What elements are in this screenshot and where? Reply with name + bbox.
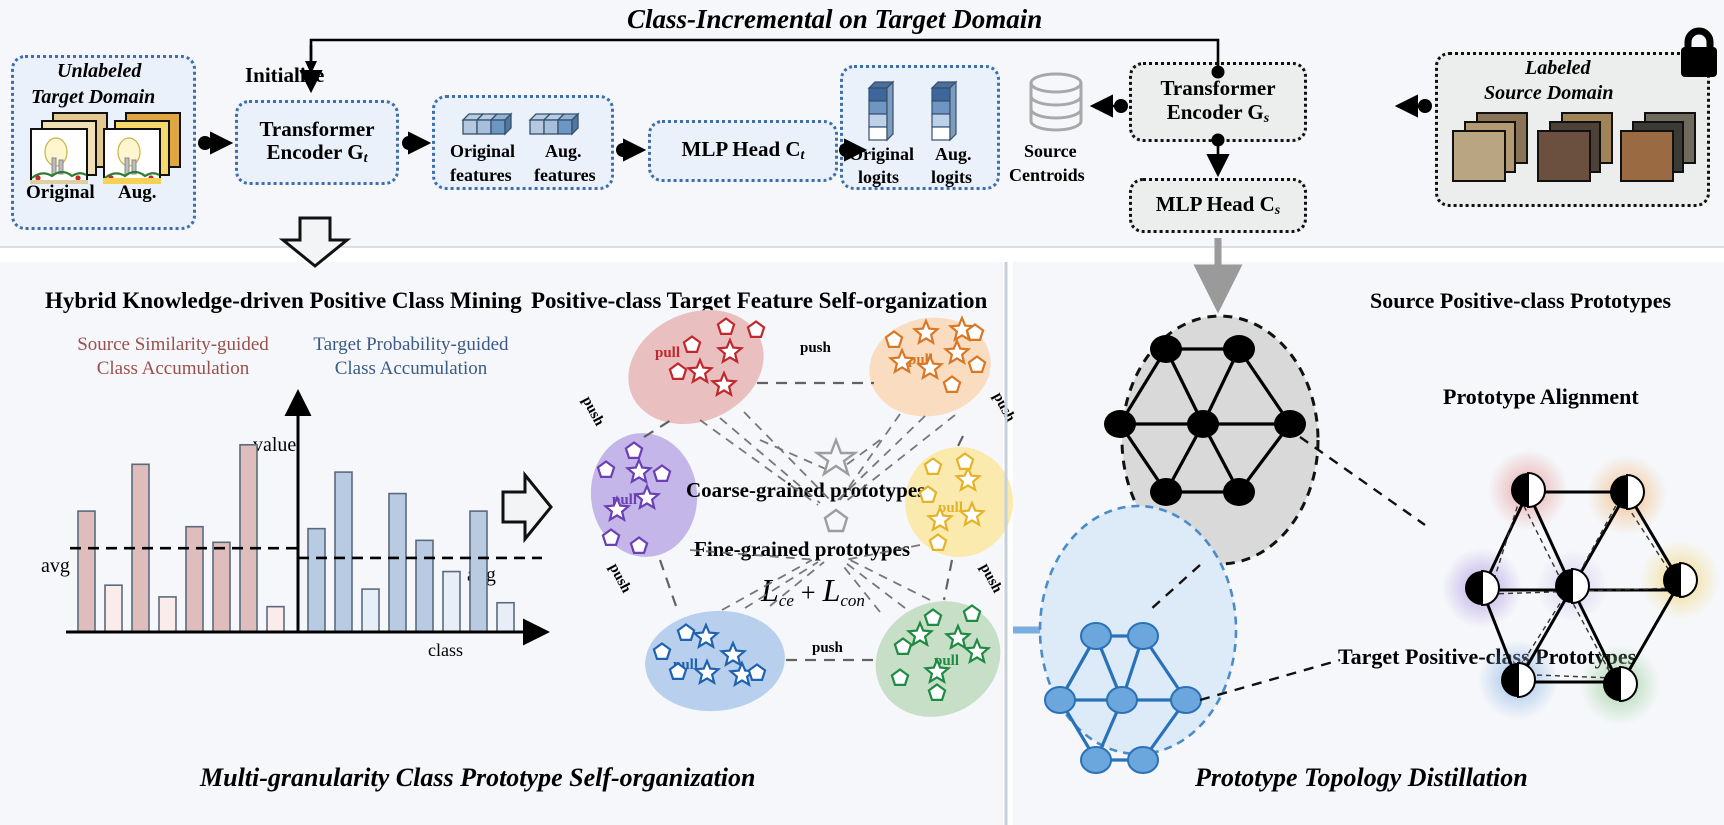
footer-title-left: Multi-granularity Class Prototype Self-o… — [200, 763, 755, 793]
panel-prototype-topology — [1013, 262, 1724, 825]
original-features-label-line1: Original — [450, 141, 515, 162]
chart-avg-label-left: avg — [41, 555, 70, 578]
loss-con-subscript: con — [840, 591, 865, 610]
class-accumulation-bar-chart — [62, 420, 502, 670]
mlp-head-ct-subscript: t — [801, 148, 805, 163]
original-logits-bar — [865, 78, 901, 149]
loss-plus-operator: + — [801, 578, 816, 607]
cluster-purple-pull-label: pull — [612, 492, 637, 509]
aug-features-label-line1: Aug. — [545, 141, 582, 162]
footer-title-right: Prototype Topology Distillation — [1195, 763, 1528, 793]
fine-grained-label: Fine-grained prototypes — [694, 537, 910, 562]
target-aug-caption: Aug. — [118, 182, 157, 204]
cluster-yellow-pull-label: pull — [938, 500, 963, 517]
unlabeled-target-label-line2: Target Domain — [31, 86, 155, 109]
cluster-green-pull-label: pull — [934, 653, 959, 670]
lock-icon — [1676, 26, 1722, 85]
chart-avg-label-right: avg — [467, 564, 496, 587]
loss-ptd-formula: Lptd — [1232, 485, 1272, 524]
encoder-t-line1: Transformer — [259, 117, 374, 141]
aug-logits-label-line2: logits — [931, 167, 972, 188]
cluster-red-pull-label: pull — [655, 345, 680, 362]
cluster-orange-pull-label: pull — [908, 352, 933, 369]
encoder-s-line2: Encoder G — [1167, 100, 1264, 124]
mlp-head-cs-box: MLP Head Cs — [1129, 178, 1307, 233]
aug-logits-label-line1: Aug. — [935, 144, 972, 165]
legend-target-line2: Class Accumulation — [335, 358, 488, 379]
chart-xlabel: class — [428, 640, 463, 661]
initialize-label: Initialize — [245, 63, 324, 88]
encoder-s-subscript: s — [1264, 111, 1269, 126]
target-original-caption: Original — [26, 182, 95, 204]
labeled-source-label-line1: Labeled — [1525, 57, 1591, 80]
legend-source-similarity: Source Similarity-guided Class Accumulat… — [58, 333, 288, 381]
heading-target-prototypes: Target Positive-class Prototypes — [1338, 644, 1636, 670]
source-centroids-cylinder — [1022, 68, 1092, 145]
mlp-head-cs-label: MLP Head C — [1156, 192, 1275, 216]
push-label-top: push — [800, 340, 831, 357]
aug-logits-bar — [928, 78, 964, 149]
coarse-grained-label: Coarse-grained prototypes — [686, 478, 925, 503]
page-title: Class-Incremental on Target Domain — [627, 4, 1042, 35]
legend-target-line1: Target Probability-guided — [313, 334, 508, 355]
heading-prototype-alignment: Prototype Alignment — [1443, 384, 1639, 410]
loss-ce-con-formula: Lce + Lcon — [761, 572, 865, 611]
legend-source-line2: Class Accumulation — [97, 358, 250, 379]
original-logits-label-line2: logits — [858, 167, 899, 188]
loss-ptd-subscript: ptd — [1250, 504, 1272, 523]
loss-ce-subscript: ce — [779, 591, 794, 610]
chart-ylabel: value — [253, 434, 296, 457]
mlp-head-ct-box: MLP Head Ct — [648, 120, 838, 182]
transformer-encoder-gt-box: Transformer Encoder Gt — [235, 100, 399, 185]
original-logits-label-line1: Original — [849, 144, 914, 165]
legend-source-line1: Source Similarity-guided — [77, 334, 269, 355]
heading-feature-selforg: Positive-class Target Feature Self-organ… — [531, 288, 987, 314]
mlp-head-ct-label: MLP Head C — [682, 137, 801, 161]
heading-source-prototypes: Source Positive-class Prototypes — [1370, 288, 1671, 314]
encoder-t-line2: Encoder G — [267, 140, 364, 164]
unlabeled-target-label-line1: Unlabeled — [57, 60, 141, 83]
source-centroids-label-line2: Centroids — [1009, 165, 1085, 186]
push-label-bottom: push — [812, 640, 843, 657]
cluster-blue-pull-label: pull — [673, 657, 698, 674]
source-centroids-label-line1: Source — [1024, 141, 1077, 162]
transformer-encoder-gs-box: Transformer Encoder Gs — [1129, 62, 1307, 142]
heading-hybrid-mining: Hybrid Knowledge-driven Positive Class M… — [45, 288, 522, 314]
loss-con-symbol: L — [823, 572, 841, 608]
mlp-head-cs-subscript: s — [1275, 203, 1280, 218]
loss-ce-symbol: L — [761, 572, 779, 608]
legend-target-probability: Target Probability-guided Class Accumula… — [296, 333, 526, 381]
original-features-label-line2: features — [450, 165, 512, 186]
aug-features-label-line2: features — [534, 165, 596, 186]
labeled-source-label-line2: Source Domain — [1484, 82, 1613, 105]
encoder-t-subscript: t — [364, 151, 368, 166]
encoder-s-line1: Transformer — [1160, 76, 1275, 100]
loss-ptd-symbol: L — [1232, 485, 1250, 521]
